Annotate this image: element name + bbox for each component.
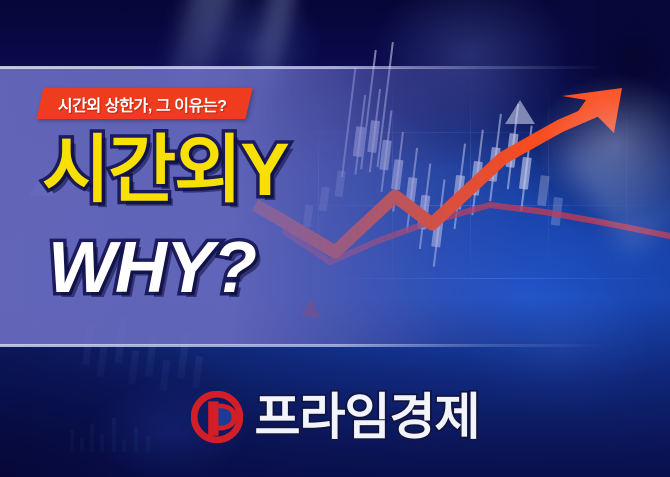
panel-top-divider [0,66,670,69]
kicker-badge: 시간외 상한가, 그 이유는? [36,88,252,119]
headline-primary: 시간외Y [42,133,288,207]
brand-name: 프라임경제 [255,392,480,442]
brand-footer: 프라임경제 [0,386,670,448]
kicker-badge-label: 시간외 상한가, 그 이유는? [58,92,227,116]
headline-secondary: WHY? [48,232,256,304]
panel-bottom-divider [0,344,670,347]
thumbnail-card: 96 98 시간외 상한가, 그 이유는? 시간외Y WHY? 프라임 [0,0,670,477]
prime-economy-logo-icon [191,391,243,443]
